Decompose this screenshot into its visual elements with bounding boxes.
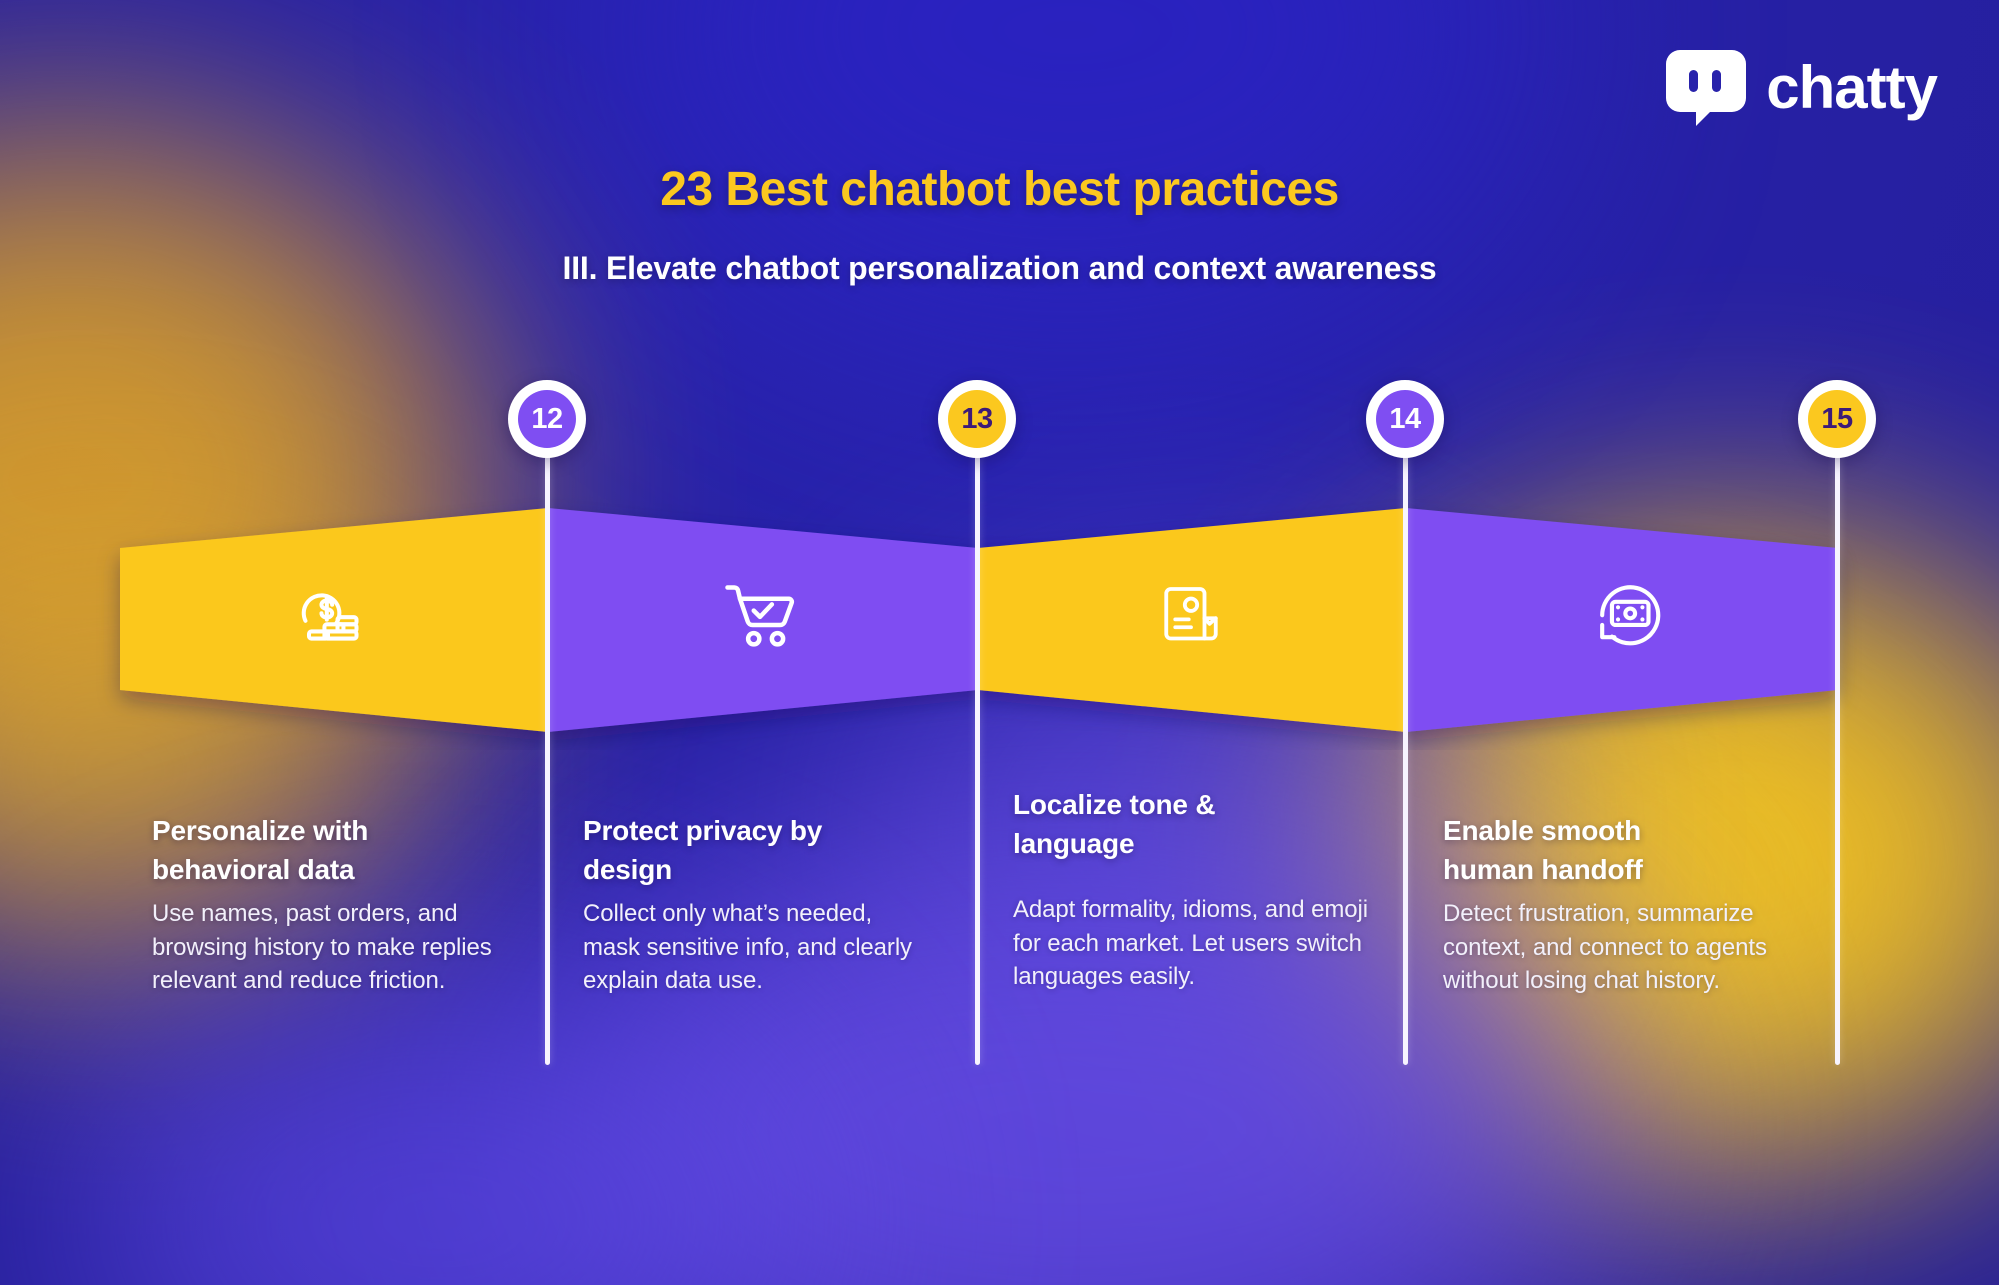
step-title-13: Protect privacy by design [583, 812, 931, 889]
step-column-13: Protect privacy by design Collect only w… [583, 812, 931, 998]
step-column-14: Localize tone & language Adapt formality… [1013, 786, 1393, 994]
connector-line-12 [545, 452, 550, 1065]
step-badge-12[interactable]: 12 [508, 380, 586, 458]
connector-line-13 [975, 452, 980, 1065]
step-column-12: Personalize with behavioral data Use nam… [152, 812, 512, 998]
certificate-document-icon [1155, 578, 1227, 654]
step-badge-15[interactable]: 15 [1798, 380, 1876, 458]
chat-bubble-icon [1664, 48, 1748, 128]
step-body-13: Collect only what’s needed, mask sensiti… [583, 897, 931, 998]
step-badge-14-number: 14 [1376, 390, 1434, 448]
step-badge-13-number: 13 [948, 390, 1006, 448]
page-title: 23 Best chatbot best practices [0, 162, 1999, 217]
step-title-12: Personalize with behavioral data [152, 812, 512, 889]
infographic-canvas: chatty 23 Best chatbot best practices II… [0, 0, 1999, 1285]
step-column-15: Enable smooth human handoff Detect frust… [1443, 812, 1818, 998]
step-badge-14[interactable]: 14 [1366, 380, 1444, 458]
money-stack-icon [290, 578, 366, 654]
connector-line-14 [1403, 452, 1408, 1065]
step-body-14: Adapt formality, idioms, and emoji for e… [1013, 893, 1393, 994]
step-badge-12-number: 12 [518, 390, 576, 448]
step-title-15: Enable smooth human handoff [1443, 812, 1818, 889]
shopping-cart-check-icon [720, 575, 800, 655]
step-body-15: Detect frustration, summarize context, a… [1443, 897, 1818, 998]
page-subtitle: III. Elevate chatbot personalization and… [0, 250, 1999, 287]
money-refund-icon [1590, 575, 1668, 653]
brand-logo: chatty [1664, 48, 1937, 128]
brand-name: chatty [1766, 58, 1937, 118]
connector-line-15 [1835, 452, 1840, 1065]
step-title-14: Localize tone & language [1013, 786, 1393, 863]
step-body-12: Use names, past orders, and browsing his… [152, 897, 512, 998]
step-badge-15-number: 15 [1808, 390, 1866, 448]
step-badge-13[interactable]: 13 [938, 380, 1016, 458]
